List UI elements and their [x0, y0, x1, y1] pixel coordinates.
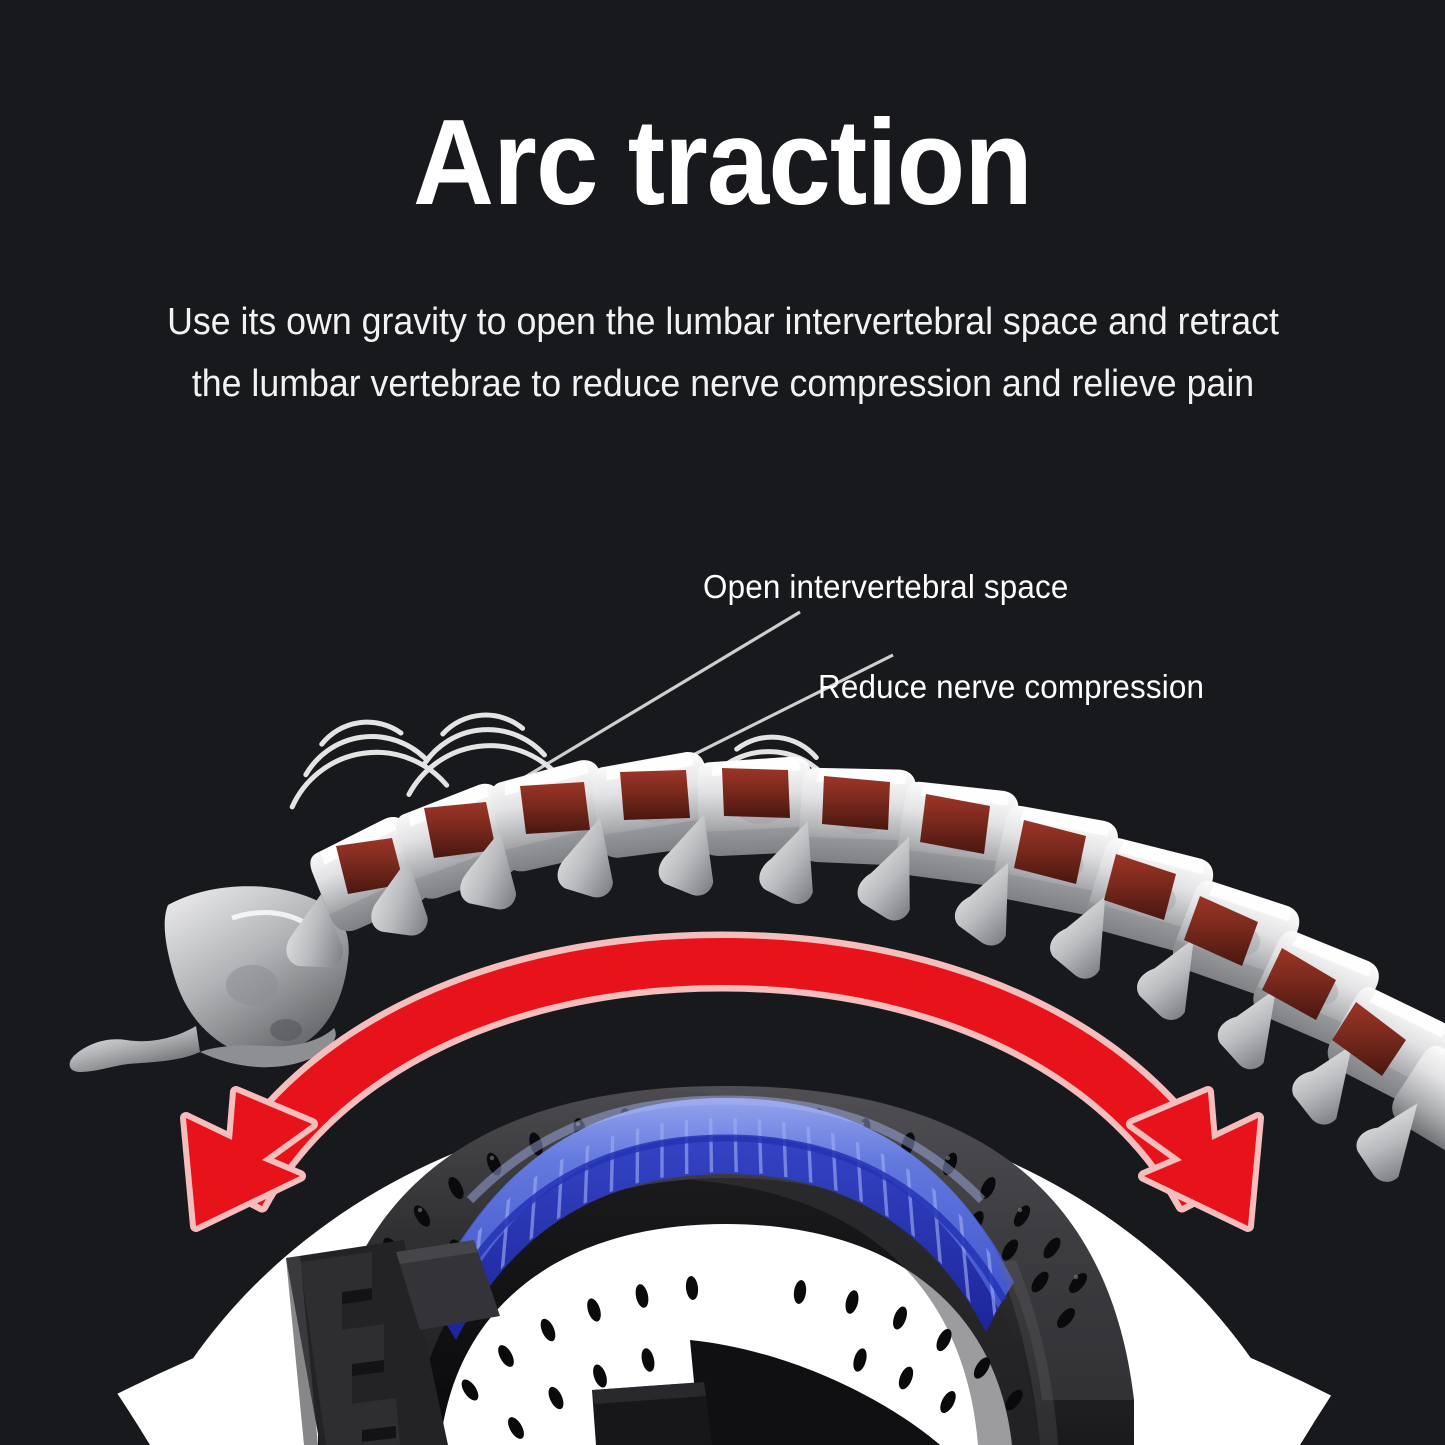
vertebra: [1209, 916, 1385, 1104]
vertebra: [546, 750, 718, 901]
callout-label: Open intervertebral space: [703, 568, 1068, 606]
stretcher-foot: [592, 1382, 712, 1445]
intervertebral-disc: [1332, 1002, 1406, 1076]
vertebra: [1044, 824, 1218, 1007]
intervertebral-disc: [424, 802, 496, 858]
traction-arrow-head-right: [1132, 1092, 1258, 1226]
vertebra: [950, 793, 1122, 969]
intervertebral-disc: [620, 770, 690, 820]
intervertebral-disc: [822, 776, 890, 830]
acupressure-nubs: [354, 1100, 1091, 1441]
subtitle-line-2: the lumbar vertebrae to reduce nerve com…: [128, 354, 1317, 416]
intervertebral-disc: [1184, 896, 1258, 966]
vertebra: [758, 760, 918, 911]
notched-height-adjuster: [286, 1240, 500, 1445]
callout-label: Reduce nerve compression: [818, 668, 1204, 706]
intervertebral-disc: [1262, 948, 1336, 1020]
intervertebral-disc: [336, 838, 404, 894]
page-title: Arc traction: [58, 98, 1387, 226]
blue-magnetic-pad: [432, 1079, 1014, 1364]
intervertebral-disc: [1104, 854, 1176, 920]
sacrum-bone: [70, 886, 349, 1072]
intervertebral-disc: [1014, 820, 1086, 884]
vertebrae-group: [253, 750, 1445, 1219]
callout-open-intervertebral-space: Open intervertebral space: [703, 568, 1088, 606]
vertebra: [1129, 866, 1304, 1052]
pad-ribs: [440, 1079, 1000, 1364]
vibration-wave-icon: [693, 729, 856, 819]
vibration-wave-icon: [404, 710, 565, 795]
stretcher-frame: [318, 1086, 1134, 1445]
product-feature-banner: Arc traction Use its own gravity to open…: [0, 0, 1445, 1445]
frame-rim-highlight: [998, 1260, 1058, 1445]
vertebra: [440, 757, 622, 916]
vertebra: [854, 771, 1021, 937]
intervertebral-disc: [920, 794, 990, 854]
subtitle-line-1: Use its own gravity to open the lumbar i…: [128, 292, 1317, 354]
leader-line-icon: [487, 612, 800, 800]
vertebra: [343, 779, 533, 946]
vertebra: [657, 756, 814, 896]
vertebra: [253, 812, 446, 981]
page-subtitle: Use its own gravity to open the lumbar i…: [90, 292, 1355, 415]
vertebra: [1346, 1033, 1445, 1219]
callout-reduce-nerve-compression: Reduce nerve compression: [818, 668, 1225, 706]
intervertebral-disc: [722, 768, 790, 818]
vertebra: [1282, 973, 1445, 1161]
traction-arrow-head-left: [186, 1092, 312, 1226]
traction-arrow-icon: [216, 938, 1228, 1206]
intervertebral-disc: [520, 782, 590, 834]
vibration-wave-icon: [282, 712, 447, 807]
